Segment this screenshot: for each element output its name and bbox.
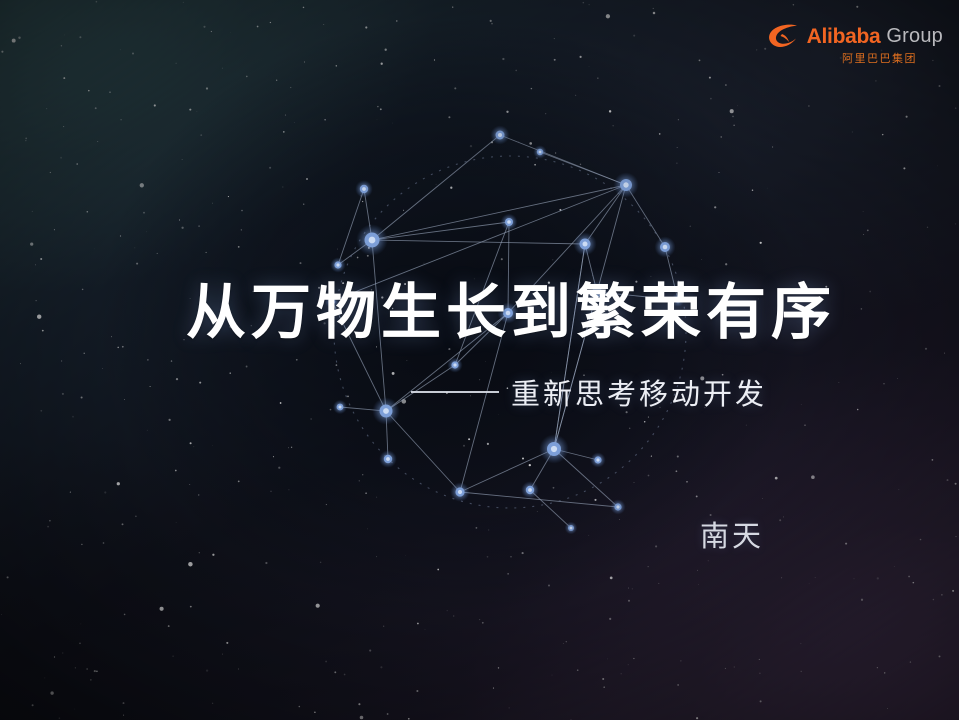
alibaba-group-logo: Alibaba Group 阿里巴巴集团 xyxy=(767,22,943,64)
alibaba-swoosh-icon xyxy=(767,22,801,50)
slide-subtitle: 重新思考移动开发 xyxy=(411,371,767,413)
subtitle-text: 重新思考移动开发 xyxy=(511,371,767,413)
background-vignette xyxy=(0,0,959,720)
presentation-slide: Alibaba Group 阿里巴巴集团 从万物生长到繁荣有序 重新思考移动开发… xyxy=(0,0,959,720)
presenter-name: 南天 xyxy=(700,513,764,555)
slide-title: 从万物生长到繁荣有序 xyxy=(186,264,836,351)
logo-brand-text: Alibaba xyxy=(807,26,881,47)
subtitle-dash-rule xyxy=(411,391,499,393)
logo-wordmark-row: Alibaba Group xyxy=(767,22,943,50)
logo-chinese-text: 阿里巴巴集团 xyxy=(842,53,917,64)
logo-suffix-text: Group xyxy=(886,26,943,46)
